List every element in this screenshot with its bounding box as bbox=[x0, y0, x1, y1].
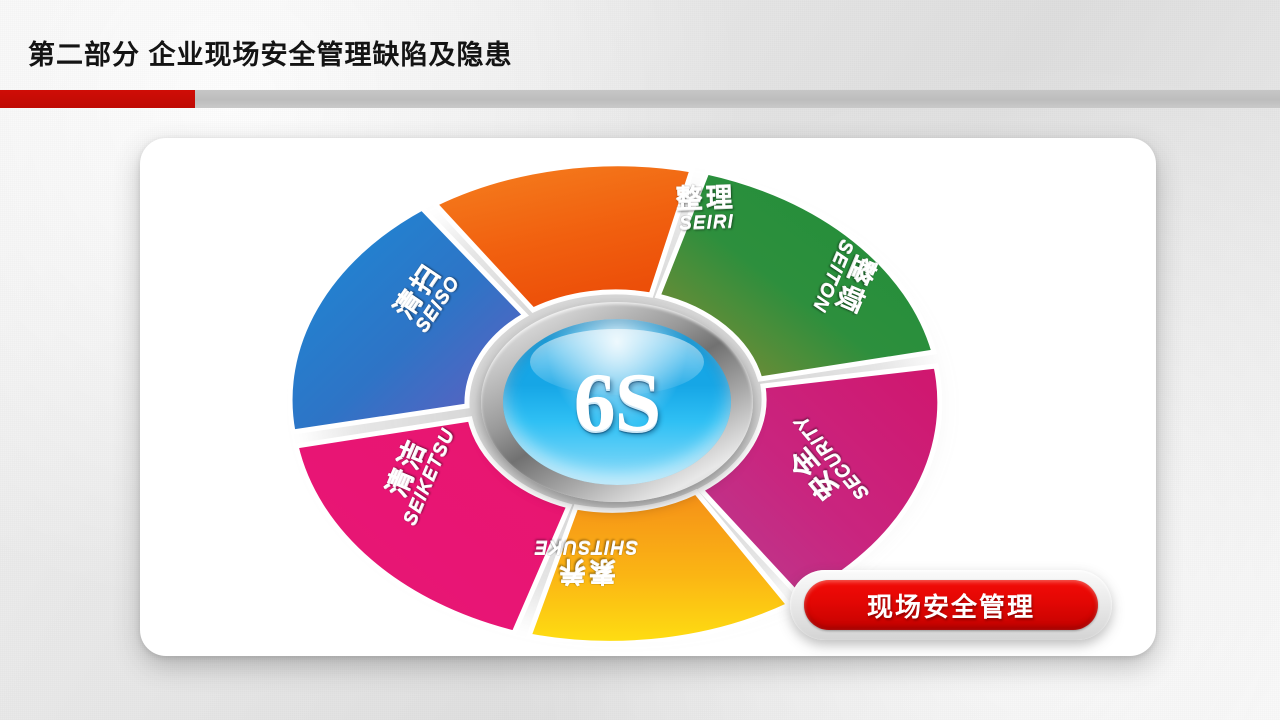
site-safety-management-button[interactable]: 现场安全管理 bbox=[790, 570, 1112, 640]
cta-inner-surface: 现场安全管理 bbox=[804, 580, 1098, 630]
segment-label-seiri: 整理 SEIRI bbox=[610, 181, 802, 236]
title-divider-track bbox=[195, 90, 1280, 108]
cta-label: 现场安全管理 bbox=[867, 587, 1035, 624]
segment-cn-shitsuke: 素养 bbox=[476, 557, 696, 586]
hub-label: 6S bbox=[574, 354, 661, 451]
slide-header: 第二部分 企业现场安全管理缺陷及隐患 bbox=[0, 0, 1280, 110]
segment-label-shitsuke: 素养 SHITSUKE bbox=[476, 537, 696, 586]
segment-romaji-shitsuke: SHITSUKE bbox=[476, 537, 696, 557]
wheel-hub-core[interactable]: 6S bbox=[503, 319, 731, 485]
wheel-hub-ring: 6S bbox=[481, 302, 753, 502]
page-title: 第二部分 企业现场安全管理缺陷及隐患 bbox=[28, 33, 513, 72]
title-divider-accent bbox=[0, 90, 195, 108]
title-divider-rule bbox=[0, 90, 1280, 108]
